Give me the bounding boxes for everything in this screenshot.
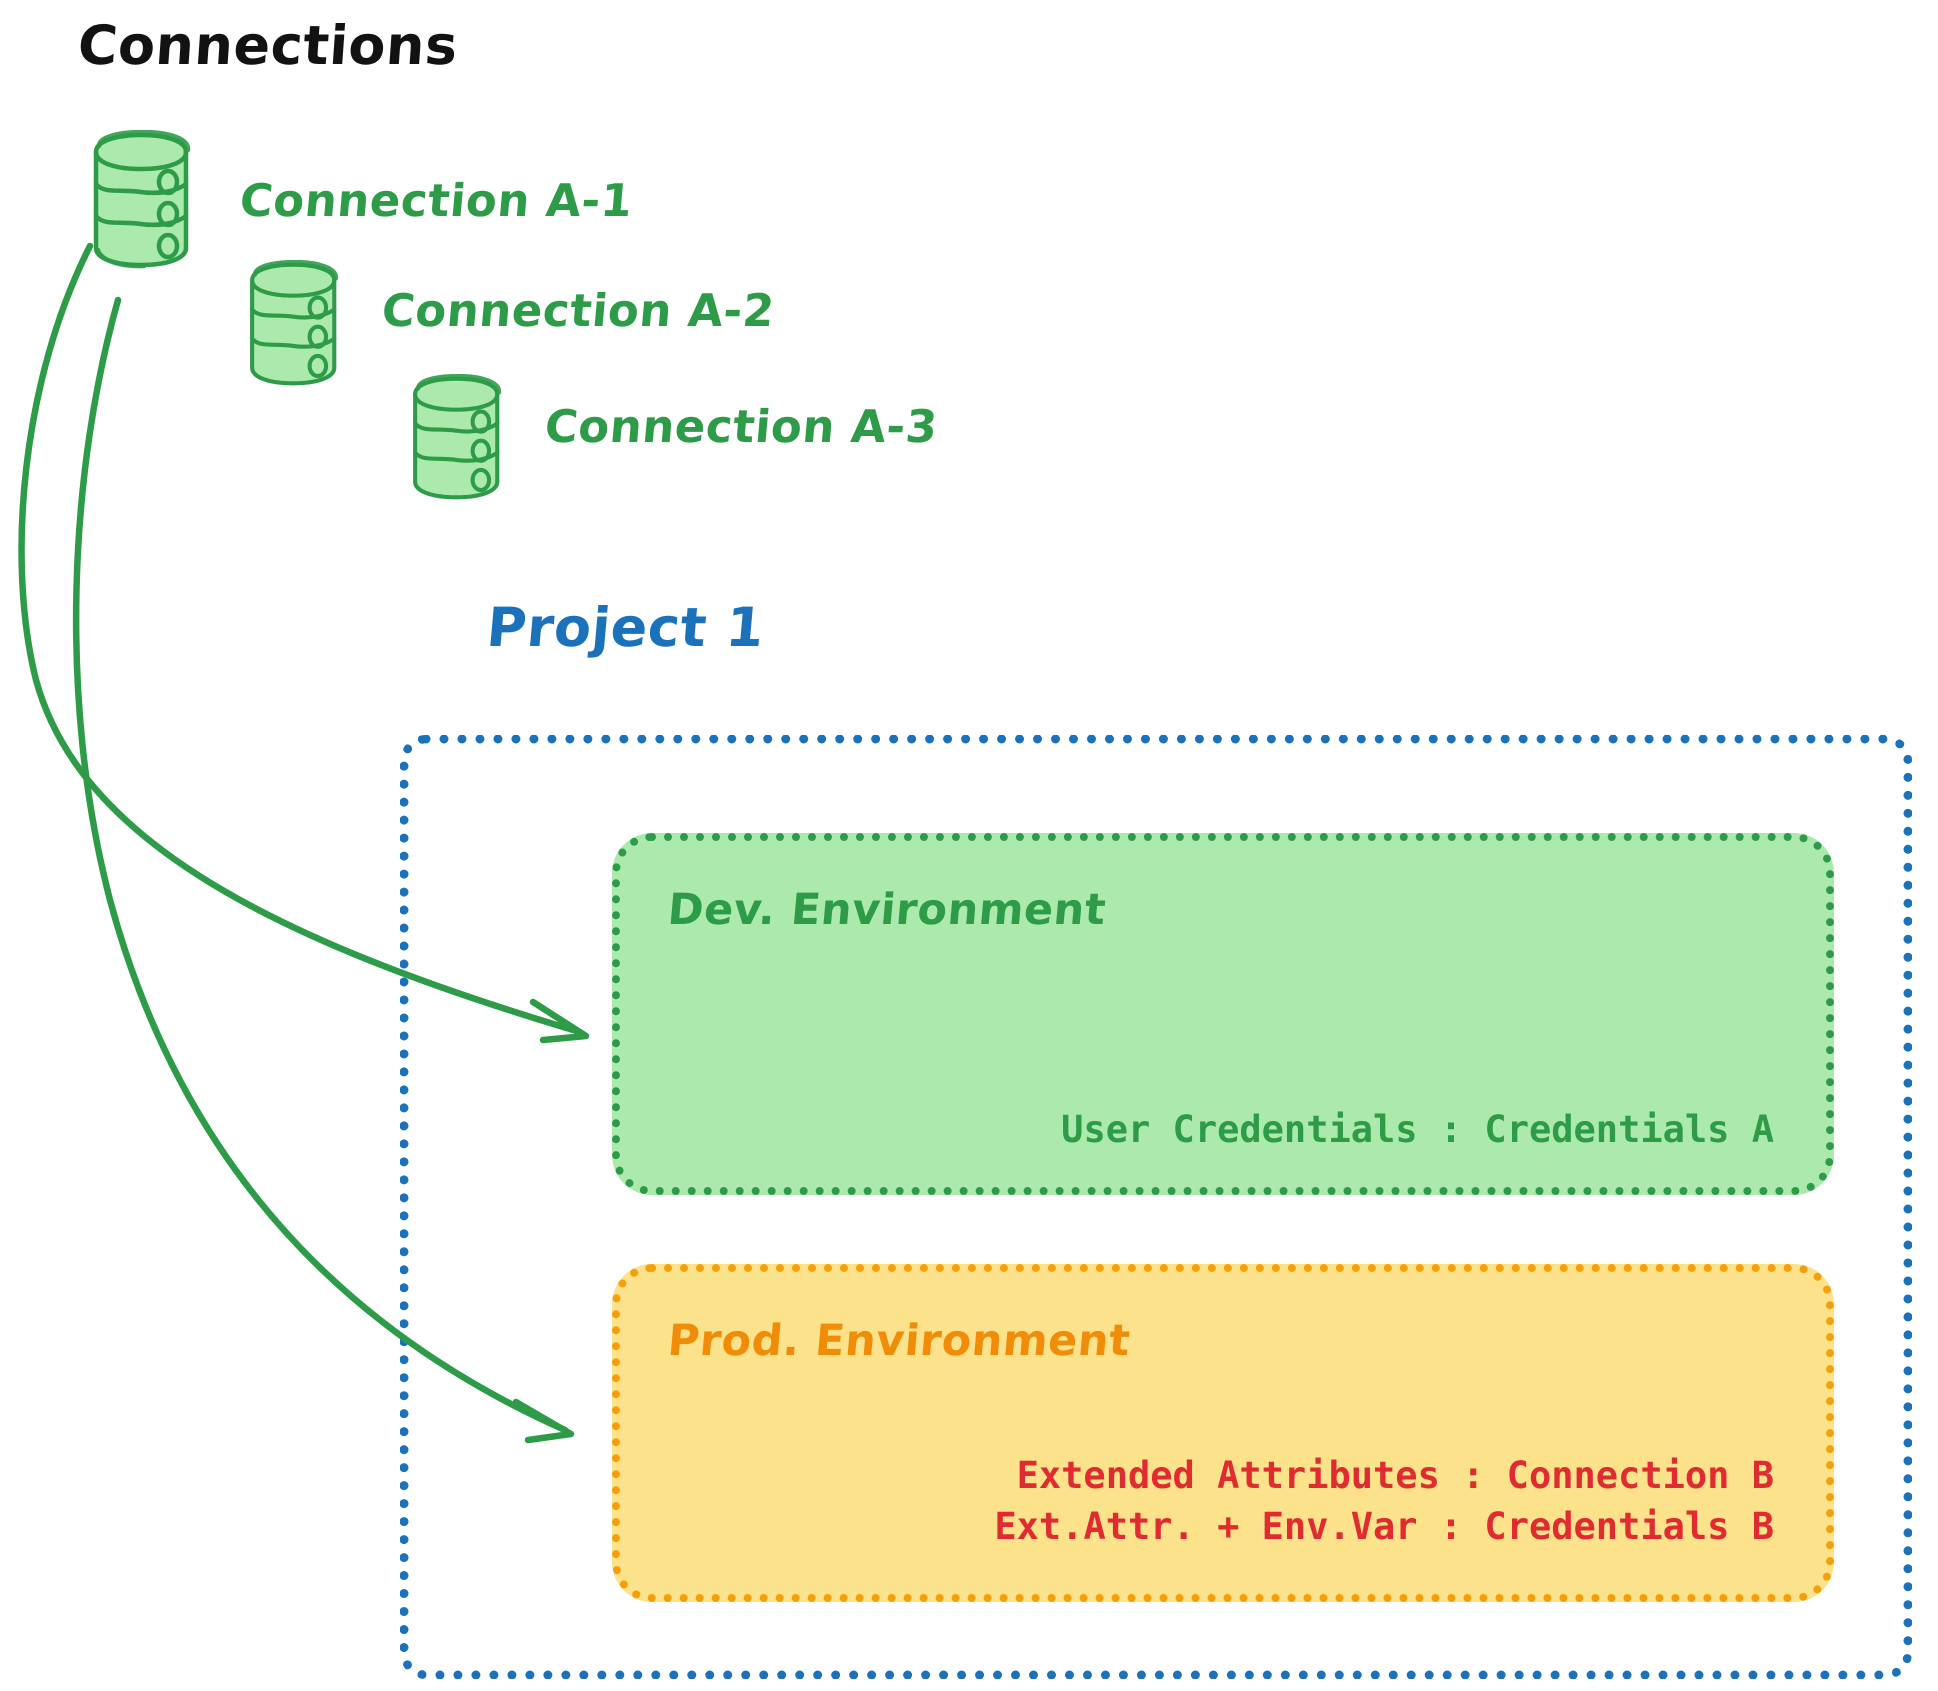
- connection-label-a-3: Connection A-3: [543, 400, 940, 453]
- environment-detail-line: User Credentials : Credentials A: [1061, 1104, 1774, 1155]
- environment-box-dev[interactable]: Dev. Environment User Credentials : Cred…: [612, 833, 1834, 1195]
- environment-box-prod[interactable]: Prod. Environment Extended Attributes : …: [612, 1264, 1834, 1602]
- database-icon-connection-a-3[interactable]: [406, 374, 521, 502]
- connection-label-a-2: Connection A-2: [380, 284, 777, 337]
- database-icon-connection-a-2[interactable]: [243, 260, 358, 388]
- project-title: Project 1: [484, 596, 767, 659]
- environment-title-prod: Prod. Environment: [666, 1316, 1132, 1366]
- database-icon-connection-a-1[interactable]: [86, 130, 212, 270]
- environment-detail-line: Ext.Attr. + Env.Var : Credentials B: [994, 1501, 1774, 1552]
- environment-detail-list-dev: User Credentials : Credentials A: [1061, 1104, 1774, 1155]
- environment-title-dev: Dev. Environment: [666, 885, 1108, 935]
- environment-detail-line: Extended Attributes : Connection B: [994, 1450, 1774, 1501]
- page-title: Connections: [76, 14, 460, 77]
- connection-label-a-1: Connection A-1: [238, 174, 635, 227]
- environment-detail-list-prod: Extended Attributes : Connection B Ext.A…: [994, 1450, 1774, 1552]
- diagram-canvas: Connections: [0, 0, 1938, 1691]
